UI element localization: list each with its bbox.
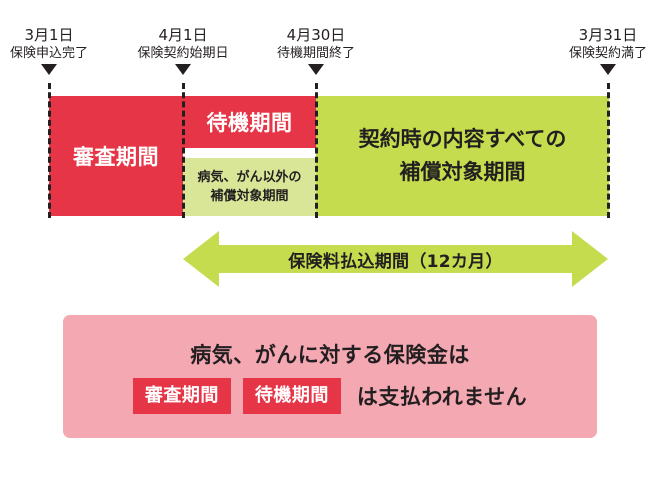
segment-full-coverage-period: 契約時の内容すべての 補償対象期間 <box>316 96 609 216</box>
segment-full-coverage-line1: 契約時の内容すべての <box>359 123 567 156</box>
segment-waiting-sub: 病気、がん以外の 補償対象期間 <box>183 158 316 216</box>
exclusion-notice-line2: 審査期間 待機期間 は支払われません <box>133 378 527 414</box>
exclusion-notice-tail: は支払われません <box>357 381 527 411</box>
segment-waiting-period: 待機期間 病気、がん以外の 補償対象期間 <box>183 96 316 216</box>
guide-line-3 <box>315 83 318 218</box>
guide-line-2 <box>182 83 185 218</box>
segment-full-coverage-label: 契約時の内容すべての 補償対象期間 <box>316 96 609 216</box>
date-marker-3-date: 4月30日 <box>236 26 396 45</box>
exclusion-notice-box: 病気、がんに対する保険金は 審査期間 待機期間 は支払われません <box>63 315 597 438</box>
segment-waiting-sub-line1: 病気、がん以外の <box>197 168 301 187</box>
date-marker-4-date: 3月31日 <box>528 26 660 45</box>
date-marker-3: 4月30日 待機期間終了 <box>236 26 396 75</box>
exclusion-notice-line1: 病気、がんに対する保険金は <box>190 339 470 369</box>
guide-line-1 <box>48 83 51 218</box>
segment-full-coverage-line2: 補償対象期間 <box>400 156 526 189</box>
triangle-down-icon <box>175 64 191 75</box>
triangle-down-icon <box>308 64 324 75</box>
exclusion-chip-waiting: 待機期間 <box>243 378 341 414</box>
premium-payment-arrow: 保険料払込期間（12カ月） <box>183 231 608 287</box>
triangle-down-icon <box>600 64 616 75</box>
exclusion-chip-examination: 審査期間 <box>133 378 231 414</box>
segment-waiting-label: 待機期間 <box>183 96 316 148</box>
date-marker-3-note: 待機期間終了 <box>236 45 396 63</box>
premium-payment-arrow-label: 保険料払込期間（12カ月） <box>183 231 608 287</box>
triangle-down-icon <box>41 64 57 75</box>
date-marker-4-note: 保険契約満了 <box>528 45 660 63</box>
timeline-bar: 審査期間 待機期間 病気、がん以外の 補償対象期間 契約時の内容すべての 補償対… <box>49 96 609 216</box>
segment-divider <box>183 148 316 158</box>
date-marker-4: 3月31日 保険契約満了 <box>528 26 660 75</box>
segment-examination-label: 審査期間 <box>49 96 183 216</box>
segment-waiting-sub-line2: 補償対象期間 <box>210 187 288 206</box>
segment-examination-period: 審査期間 <box>49 96 183 216</box>
guide-line-4 <box>607 83 610 218</box>
